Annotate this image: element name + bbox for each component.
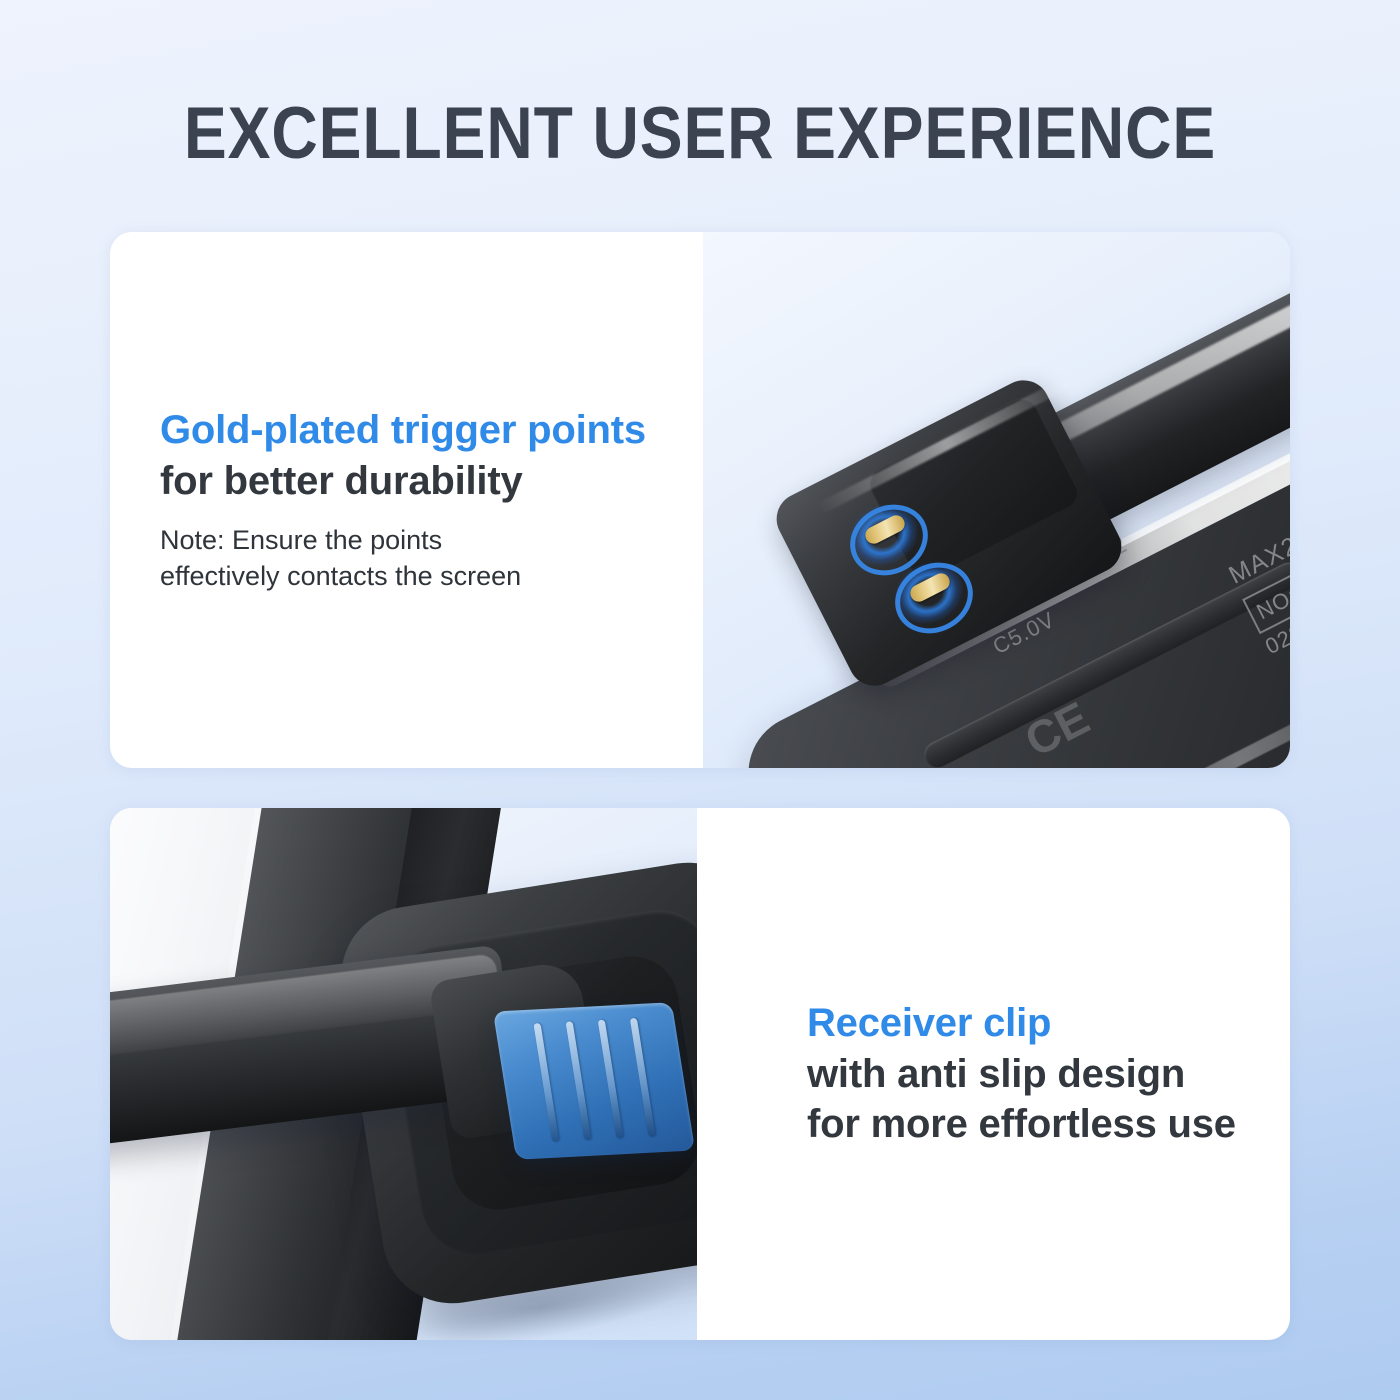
note-block: Note: Ensure the points effectively cont… [160, 523, 703, 595]
grip-ridge [533, 1023, 559, 1142]
headline-dark-line-1: with anti slip design [807, 1049, 1290, 1099]
headline-dark: for better durability [160, 456, 703, 506]
grip-ridge [565, 1021, 591, 1140]
card-text-block: Gold-plated trigger points for better du… [110, 232, 703, 768]
gold-contact-point-icon [883, 554, 975, 632]
headline-accent: Gold-plated trigger points [160, 405, 703, 455]
contact-glow-ring [883, 550, 985, 647]
headline-dark-line-2: for more effortless use [807, 1099, 1290, 1149]
card-text-block: Receiver clip with anti slip design for … [697, 808, 1290, 1340]
receiver-clip-anti-slip-photo [110, 808, 697, 1340]
grip-ridge [597, 1020, 623, 1139]
headline-accent: Receiver clip [807, 998, 1290, 1048]
anti-slip-ridges [503, 1011, 684, 1150]
note-line-2: effectively contacts the screen [160, 559, 703, 595]
note-line-1: Note: Ensure the points [160, 523, 703, 559]
page-title: EXCELLENT USER EXPERIENCE [84, 92, 1316, 175]
phone-trigger-gold-contacts-photo: EL:HKRC002 C5.0V MAX2 NO: H 0230 CE [703, 232, 1290, 768]
feature-card-receiver-clip: Receiver clip with anti slip design for … [110, 808, 1290, 1340]
feature-card-gold-plated-trigger-points: Gold-plated trigger points for better du… [110, 232, 1290, 768]
grip-ridge [629, 1018, 655, 1137]
